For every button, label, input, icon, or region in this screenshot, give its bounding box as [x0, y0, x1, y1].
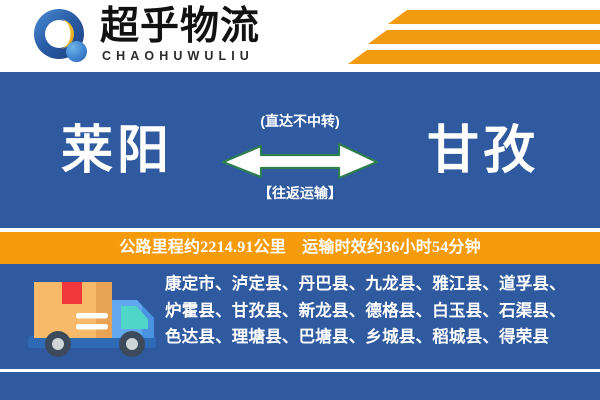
- logo-accent-dot-icon: [66, 41, 87, 62]
- coverage-city-list: 康定市、泸定县、丹巴县、九龙县、雅江县、道孚县、 炉霍县、甘孜县、新龙县、德格县…: [165, 271, 595, 367]
- distance-duration-text: 公路里程约2214.91公里 运输时效约36小时54分钟: [119, 238, 481, 258]
- brand-name-en: CHAOHUWULIU: [100, 49, 330, 63]
- route-note-roundtrip: 【往返运输】: [215, 184, 385, 202]
- banner-header: 超乎物流 CHAOHUWULIU: [0, 0, 600, 72]
- brand-logo: [33, 8, 91, 66]
- route-direction-group: (直达不中转) 【往返运输】: [215, 112, 385, 222]
- bottom-divider: [0, 369, 600, 372]
- coverage-city-line: 色达县、理塘县、巴塘县、乡城县、稻城县、得荣县: [165, 324, 595, 351]
- header-stripe-1: [388, 10, 600, 24]
- origin-city: 莱阳: [22, 118, 212, 188]
- header-stripes-decoration: [350, 0, 600, 72]
- logistics-route-banner: 超乎物流 CHAOHUWULIU 莱阳 (直达不中转) 【往返运输】 甘孜 公路…: [0, 0, 600, 400]
- route-info-bar: 公路里程约2214.91公里 运输时效约36小时54分钟: [0, 232, 600, 264]
- header-stripe-2: [368, 30, 600, 44]
- header-stripe-3: [348, 50, 600, 64]
- coverage-city-line: 康定市、泸定县、丹巴县、九龙县、雅江县、道孚县、: [165, 271, 595, 298]
- brand-name-block: 超乎物流 CHAOHUWULIU: [100, 6, 330, 68]
- route-panel: 莱阳 (直达不中转) 【往返运输】 甘孜: [0, 72, 600, 228]
- double-headed-arrow-icon: [221, 140, 379, 180]
- brand-name-cn: 超乎物流: [100, 6, 330, 48]
- coverage-panel: 康定市、泸定县、丹巴县、九龙县、雅江县、道孚县、 炉霍县、甘孜县、新龙县、德格县…: [0, 264, 600, 400]
- coverage-city-line: 炉霍县、甘孜县、新龙县、德格县、白玉县、石渠县、: [165, 298, 595, 325]
- destination-city: 甘孜: [388, 118, 578, 188]
- route-note-direct: (直达不中转): [215, 112, 385, 130]
- delivery-truck-icon: [22, 272, 162, 364]
